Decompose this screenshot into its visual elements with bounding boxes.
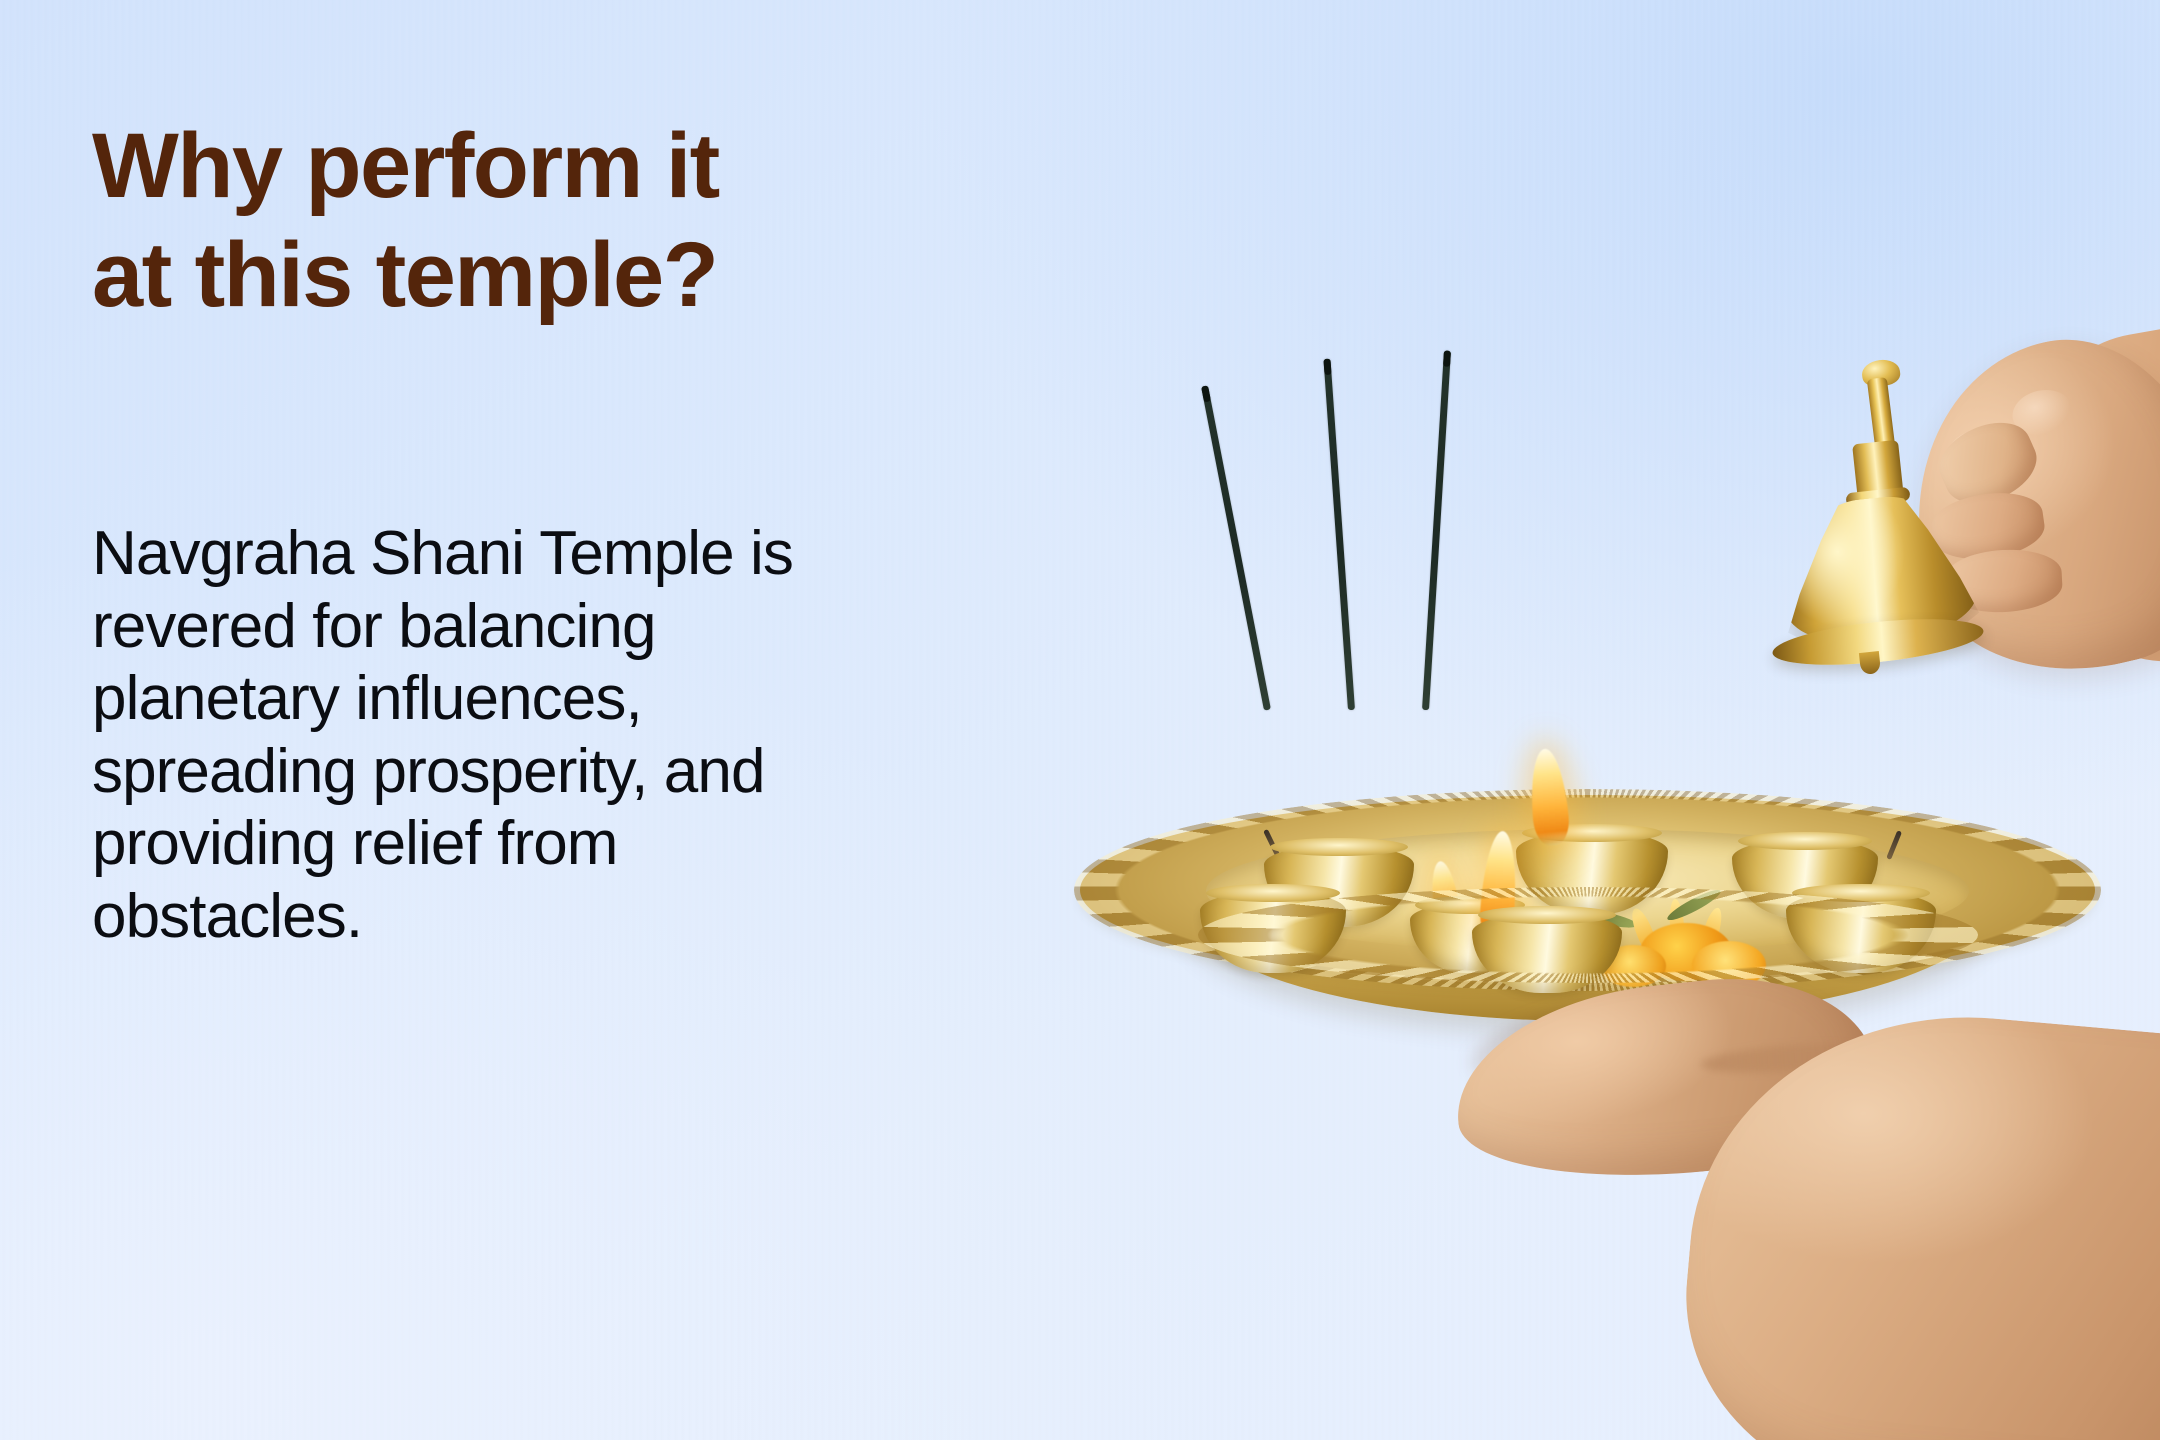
slide-canvas: Why perform it at this temple? Navgraha … [0,0,2160,1440]
incense-tip-icon [1443,350,1451,366]
plate-inner-scallop [1198,887,1978,983]
body-paragraph: Navgraha Shani Temple is revered for bal… [92,518,812,953]
incense-stick-icon [1422,350,1451,710]
bell-and-hand-group [1700,390,2120,790]
incense-stick-icon [1201,385,1271,710]
incense-sticks-group [1240,290,1660,710]
text-block: Why perform it at this temple? [92,112,1092,331]
page-title: Why perform it at this temple? [92,112,1092,331]
bell-handle-icon [1867,377,1895,449]
incense-tip-icon [1201,385,1211,402]
incense-stick-icon [1323,359,1355,711]
incense-tip-icon [1323,359,1331,375]
bell-clapper-icon [1859,651,1881,675]
